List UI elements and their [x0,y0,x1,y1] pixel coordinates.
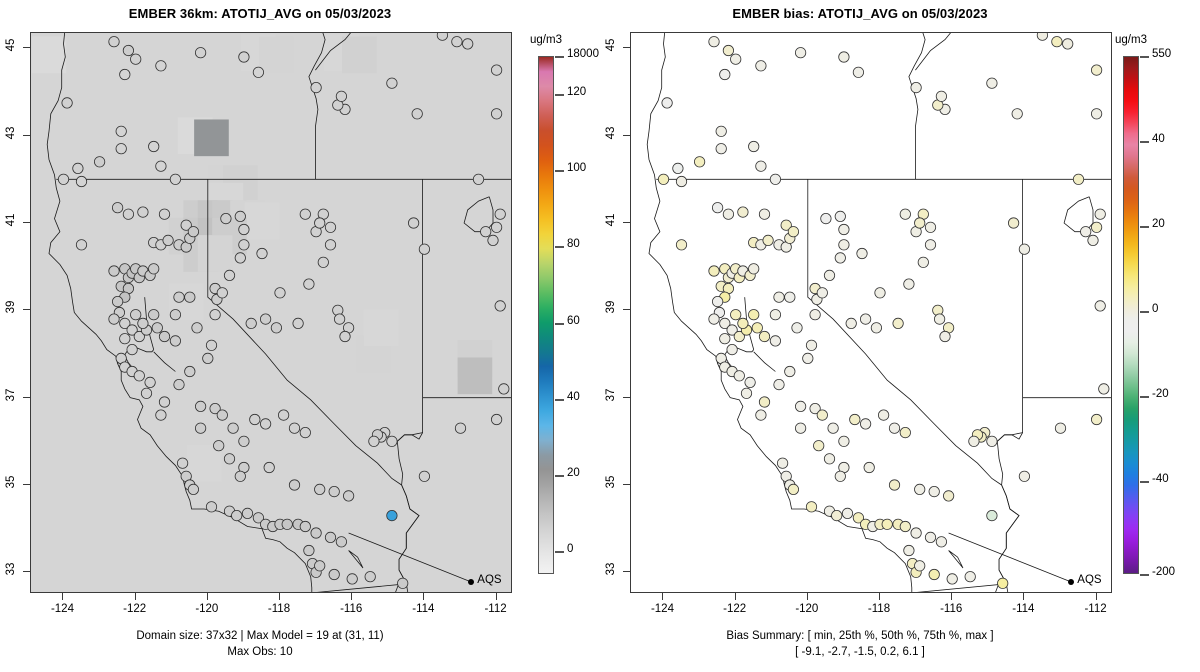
station-marker[interactable] [116,144,126,154]
station-marker[interactable] [835,253,845,263]
y-tick-mark [623,47,630,48]
station-marker[interactable] [803,353,813,363]
map-svg [31,33,511,592]
station-marker[interactable] [325,222,335,232]
y-tick-mark [23,47,30,48]
station-marker[interactable] [463,39,473,49]
station-markers [658,33,1109,589]
x-tick-label: -114 [398,603,448,615]
station-marker[interactable] [242,508,252,518]
station-marker[interactable] [131,310,141,320]
station-marker[interactable] [170,336,180,346]
figure-root: EMBER 36km: ATOTIJ_AVG on 05/03/2023AQS4… [0,0,1200,672]
station-marker[interactable] [228,423,238,433]
station-marker[interactable] [206,502,216,512]
station-marker[interactable] [210,310,220,320]
station-marker[interactable] [149,310,159,320]
station-marker[interactable] [315,561,325,571]
station-marker[interactable] [846,318,856,328]
colorbar-tick-mark [555,246,564,248]
station-marker[interactable] [810,310,820,320]
station-marker[interactable] [759,331,769,341]
station-marker[interactable] [195,48,205,58]
station-marker[interactable] [936,537,946,547]
grid-cell [198,235,233,272]
station-marker[interactable] [185,366,195,376]
station-marker[interactable] [1008,218,1018,228]
station-marker[interactable] [929,569,939,579]
station-marker[interactable] [824,454,834,464]
station-marker[interactable] [369,436,379,446]
station-marker[interactable] [864,462,874,472]
station-marker[interactable] [745,377,755,387]
station-marker[interactable] [871,323,881,333]
station-marker[interactable] [828,423,838,433]
station-marker[interactable] [911,82,921,92]
station-marker[interactable] [943,491,953,501]
station-marker[interactable] [145,377,155,387]
station-marker[interactable] [195,423,205,433]
station-marker[interactable] [709,266,719,276]
station-marker[interactable] [62,98,72,108]
station-marker[interactable] [749,141,759,151]
station-marker[interactable] [232,510,242,520]
station-marker[interactable] [260,419,270,429]
x-tick-mark [735,593,736,600]
station-marker[interactable] [756,61,766,71]
station-marker[interactable] [149,141,159,151]
station-marker[interactable] [311,82,321,92]
station-marker[interactable] [58,174,68,184]
station-marker[interactable] [774,292,784,302]
station-marker[interactable] [315,484,325,494]
station-marker[interactable] [774,379,784,389]
colorbar-tick-mark [555,170,564,172]
colorbar-gradient [1123,56,1139,574]
station-marker[interactable] [271,323,281,333]
station-marker[interactable] [159,397,169,407]
station-marker[interactable] [817,410,827,420]
station-marker[interactable] [235,211,245,221]
station-marker[interactable] [473,174,483,184]
station-marker[interactable] [217,288,227,298]
station-marker[interactable] [694,157,704,167]
station-marker[interactable] [1055,423,1065,433]
station-marker[interactable] [315,218,325,228]
station-marker[interactable] [340,331,350,341]
station-marker[interactable] [109,266,119,276]
station-marker[interactable] [756,410,766,420]
station-marker[interactable] [723,45,733,55]
station-marker[interactable] [264,462,274,472]
y-tick-mark [623,397,630,398]
station-marker[interactable] [759,397,769,407]
station-marker[interactable] [712,296,722,306]
station-marker[interactable] [934,314,944,324]
station-marker[interactable] [1073,174,1083,184]
station-marker[interactable] [712,203,722,213]
station-marker[interactable] [969,436,979,446]
station-marker[interactable] [749,264,759,274]
station-marker[interactable] [217,410,227,420]
colorbar-tick-mark [555,475,564,477]
station-marker[interactable] [756,161,766,171]
station-marker[interactable] [998,578,1008,588]
station-marker[interactable] [257,248,267,258]
y-tick-label: 33 [605,549,617,589]
station-marker[interactable] [1095,209,1105,219]
station-marker[interactable] [662,98,672,108]
station-marker[interactable] [882,519,892,529]
station-marker[interactable] [455,423,465,433]
station-marker[interactable] [900,209,910,219]
station-marker[interactable] [904,279,914,289]
station-marker[interactable] [365,572,375,582]
station-marker[interactable] [76,176,86,186]
station-marker[interactable] [738,207,748,217]
station-marker[interactable] [918,257,928,267]
station-marker[interactable] [491,414,501,424]
station-marker[interactable] [109,37,119,47]
panel-bias: EMBER bias: ATOTIJ_AVG on 05/03/2023AQS4… [600,0,1200,672]
station-marker[interactable] [749,310,759,320]
station-marker[interactable] [987,436,997,446]
x-tick-label: -116 [926,603,976,615]
station-marker[interactable] [893,318,903,328]
station-marker[interactable] [788,484,798,494]
station-marker[interactable] [987,78,997,88]
station-marker[interactable] [260,314,270,324]
station-marker[interactable] [1081,227,1091,237]
map-plot-area[interactable]: AQS [630,32,1112,593]
station-marker[interactable] [347,574,357,584]
station-marker[interactable] [889,480,899,490]
station-marker[interactable] [239,240,249,250]
station-marker[interactable] [785,292,795,302]
station-marker[interactable] [195,401,205,411]
map-svg [631,33,1111,592]
station-marker[interactable] [304,545,314,555]
station-marker[interactable] [437,33,447,40]
station-marker[interactable] [239,436,249,446]
station-marker[interactable] [94,157,104,167]
station-marker[interactable] [731,54,741,64]
station-marker[interactable] [452,37,462,47]
x-tick-label: -120 [182,603,232,615]
station-marker[interactable] [398,578,408,588]
station-marker[interactable] [936,91,946,101]
station-marker[interactable] [839,240,849,250]
station-marker[interactable] [835,471,845,481]
station-marker[interactable] [832,510,842,520]
station-marker[interactable] [889,423,899,433]
station-marker[interactable] [192,323,202,333]
station-marker[interactable] [318,257,328,267]
station-marker[interactable] [408,218,418,228]
station-marker[interactable] [795,48,805,58]
x-tick-label: -112 [471,603,521,615]
map-line [754,352,776,372]
station-marker[interactable] [304,279,314,289]
station-marker[interactable] [343,491,353,501]
station-marker[interactable] [1095,301,1105,311]
station-marker[interactable] [987,510,997,520]
station-marker[interactable] [734,371,744,381]
station-marker[interactable] [720,334,730,344]
station-marker[interactable] [120,334,130,344]
y-tick-mark [23,222,30,223]
station-marker[interactable] [911,528,921,538]
station-marker[interactable] [138,207,148,217]
station-marker[interactable] [253,67,263,77]
station-marker[interactable] [1019,471,1029,481]
station-marker[interactable] [716,144,726,154]
station-marker[interactable] [738,318,748,328]
station-marker[interactable] [170,174,180,184]
station-marker[interactable] [1037,33,1047,40]
station-marker[interactable] [282,519,292,529]
station-marker[interactable] [188,484,198,494]
station-marker[interactable] [759,209,769,219]
y-tick-mark [23,135,30,136]
station-marker[interactable] [329,569,339,579]
map-plot-area[interactable]: AQS [30,32,512,593]
station-marker[interactable] [947,574,957,584]
station-marker[interactable] [875,288,885,298]
station-marker[interactable] [116,126,126,136]
station-marker[interactable] [156,161,166,171]
station-marker[interactable] [206,340,216,350]
station-marker[interactable] [239,52,249,62]
station-marker[interactable] [203,353,213,363]
station-marker[interactable] [289,480,299,490]
station-marker[interactable] [152,323,162,333]
station-marker[interactable] [188,227,198,237]
station-marker[interactable] [785,366,795,376]
station-marker[interactable] [770,310,780,320]
y-tick-label: 39 [605,287,617,327]
station-marker[interactable] [134,371,144,381]
station-marker[interactable] [387,510,397,520]
station-marker[interactable] [131,54,141,64]
station-marker[interactable] [673,163,683,173]
station-marker[interactable] [727,344,737,354]
x-tick-mark [951,593,952,600]
station-marker[interactable] [336,537,346,547]
station-marker[interactable] [174,292,184,302]
station-marker[interactable] [1012,109,1022,119]
station-marker[interactable] [857,248,867,258]
station-marker[interactable] [235,253,245,263]
station-marker[interactable] [1063,39,1073,49]
station-marker[interactable] [839,436,849,446]
station-marker[interactable] [336,91,346,101]
colorbar-tick-label: -200 [1152,566,1175,578]
station-marker[interactable] [419,244,429,254]
station-marker[interactable] [860,314,870,324]
station-marker[interactable] [720,69,730,79]
station-marker[interactable] [221,213,231,223]
station-marker[interactable] [925,240,935,250]
station-marker[interactable] [1091,222,1101,232]
station-marker[interactable] [123,45,133,55]
station-marker[interactable] [159,209,169,219]
station-marker[interactable] [965,572,975,582]
station-marker[interactable] [806,340,816,350]
colorbar-tick-label: 80 [567,238,580,250]
station-marker[interactable] [842,508,852,518]
map-line [399,485,419,583]
station-marker[interactable] [900,427,910,437]
y-tick-label: 41 [605,200,617,240]
station-marker[interactable] [900,521,910,531]
station-marker[interactable] [109,314,119,324]
station-marker[interactable] [275,288,285,298]
station-marker[interactable] [289,423,299,433]
station-marker[interactable] [149,264,159,274]
station-marker[interactable] [850,414,860,424]
station-marker[interactable] [325,532,335,542]
station-marker[interactable] [156,61,166,71]
station-marker[interactable] [929,486,939,496]
station-marker[interactable] [1019,244,1029,254]
station-marker[interactable] [1091,414,1101,424]
station-marker[interactable] [788,227,798,237]
station-marker[interactable] [185,292,195,302]
station-marker[interactable] [1088,235,1098,245]
station-marker[interactable] [915,561,925,571]
station-marker[interactable] [835,211,845,221]
station-marker[interactable] [824,270,834,280]
station-marker[interactable] [1052,37,1062,47]
station-marker[interactable] [723,209,733,219]
station-marker[interactable] [112,203,122,213]
station-marker[interactable] [795,423,805,433]
y-tick-mark [23,571,30,572]
station-marker[interactable] [491,109,501,119]
station-marker[interactable] [127,344,137,354]
grid-cell [194,119,229,156]
station-marker[interactable] [491,222,501,232]
station-marker[interactable] [817,288,827,298]
station-marker[interactable] [300,521,310,531]
station-marker[interactable] [763,235,773,245]
station-marker[interactable] [112,296,122,306]
station-marker[interactable] [814,441,824,451]
station-marker[interactable] [770,336,780,346]
station-marker[interactable] [141,388,151,398]
station-marker[interactable] [488,235,498,245]
y-tick-mark [23,309,30,310]
station-marker[interactable] [709,37,719,47]
station-marker[interactable] [329,486,339,496]
station-marker[interactable] [174,379,184,389]
station-marker[interactable] [387,78,397,88]
station-marker[interactable] [860,419,870,429]
station-marker[interactable] [235,471,245,481]
station-marker[interactable] [940,331,950,341]
station-marker[interactable] [170,310,180,320]
station-marker[interactable] [250,414,260,424]
station-marker[interactable] [915,484,925,494]
station-marker[interactable] [387,436,397,446]
station-marker[interactable] [177,458,187,468]
station-marker[interactable] [676,240,686,250]
caption-line-2: Max Obs: 10 [0,646,520,658]
station-marker[interactable] [159,331,169,341]
y-tick-mark [623,222,630,223]
station-marker[interactable] [239,224,249,234]
colorbar: ug/m318000120100806040200 [530,50,610,580]
station-marker[interactable] [658,174,668,184]
station-marker[interactable] [878,410,888,420]
station-marker[interactable] [716,126,726,136]
station-marker[interactable] [412,109,422,119]
station-marker[interactable] [752,323,762,333]
station-marker[interactable] [334,314,344,324]
station-marker[interactable] [300,427,310,437]
station-marker[interactable] [138,318,148,328]
station-marker[interactable] [904,545,914,555]
station-marker[interactable] [792,323,802,333]
station-marker[interactable] [806,502,816,512]
station-marker[interactable] [499,384,509,394]
panel-title: EMBER bias: ATOTIJ_AVG on 05/03/2023 [600,6,1120,21]
station-marker[interactable] [156,410,166,420]
station-marker[interactable] [76,240,86,250]
station-marker[interactable] [224,270,234,280]
station-marker[interactable] [821,213,831,223]
station-marker[interactable] [311,528,321,538]
station-marker[interactable] [777,458,787,468]
station-marker[interactable] [120,69,130,79]
station-marker[interactable] [741,388,751,398]
station-marker[interactable] [495,209,505,219]
station-marker[interactable] [925,222,935,232]
station-marker[interactable] [1099,384,1109,394]
station-marker[interactable] [731,310,741,320]
station-marker[interactable] [839,224,849,234]
station-marker[interactable] [709,314,719,324]
x-tick-label: -124 [637,603,687,615]
station-marker[interactable] [123,209,133,219]
station-marker[interactable] [278,410,288,420]
station-marker[interactable] [246,318,256,328]
station-marker[interactable] [293,318,303,328]
station-marker[interactable] [853,67,863,77]
station-marker[interactable] [491,65,501,75]
station-marker[interactable] [73,163,83,173]
station-marker[interactable] [839,52,849,62]
station-marker[interactable] [481,227,491,237]
colorbar-tick-mark [555,323,564,325]
station-marker[interactable] [770,174,780,184]
station-marker[interactable] [325,240,335,250]
station-marker[interactable] [1091,65,1101,75]
station-marker[interactable] [915,218,925,228]
station-marker[interactable] [925,532,935,542]
y-tick-mark [23,484,30,485]
station-marker[interactable] [163,235,173,245]
station-marker[interactable] [676,176,686,186]
station-marker[interactable] [795,401,805,411]
station-marker[interactable] [214,441,224,451]
station-marker[interactable] [1091,109,1101,119]
station-marker[interactable] [419,471,429,481]
station-marker[interactable] [300,209,310,219]
station-marker[interactable] [224,454,234,464]
station-marker[interactable] [495,301,505,311]
